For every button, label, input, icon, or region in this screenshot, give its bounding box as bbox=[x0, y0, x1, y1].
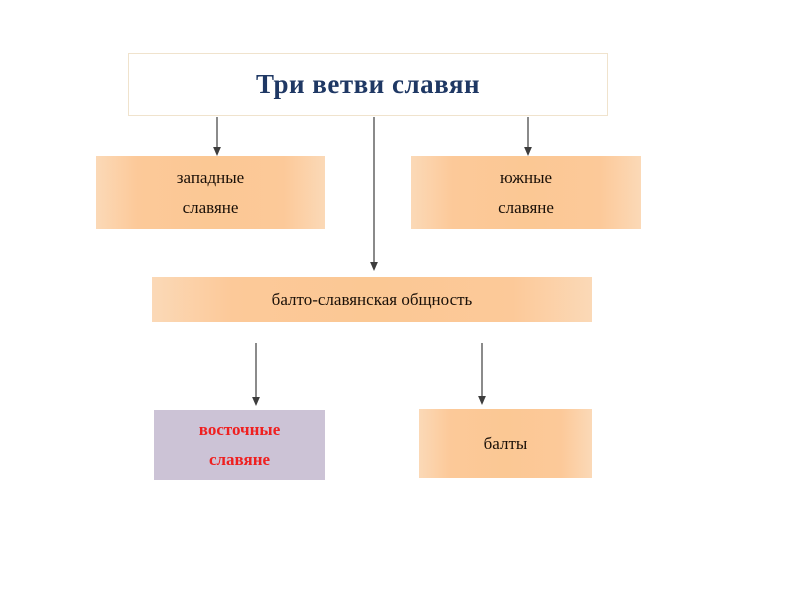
connector-title-to-west-slavs bbox=[210, 117, 224, 157]
node-southern-slavs-line-2: славяне bbox=[498, 193, 554, 223]
diagram-title-box: Три ветви славян bbox=[128, 53, 608, 116]
diagram-canvas: Три ветви славян западные славяне южные … bbox=[0, 0, 800, 600]
connector-title-to-south-slavs bbox=[521, 117, 535, 157]
connector-title-to-balto-slavic bbox=[367, 117, 381, 272]
node-eastern-slavs-line-1: восточные bbox=[199, 415, 281, 445]
node-southern-slavs: южные славяне bbox=[411, 156, 641, 229]
node-western-slavs: западные славяне bbox=[96, 156, 325, 229]
connector-balto-to-balts bbox=[475, 343, 489, 406]
node-balto-slavic-community-label: балто-славянская общность bbox=[272, 289, 473, 311]
node-eastern-slavs: восточные славяне bbox=[154, 410, 325, 480]
node-eastern-slavs-line-2: славяне bbox=[209, 445, 270, 475]
node-southern-slavs-line-1: южные bbox=[500, 163, 552, 193]
node-balto-slavic-community: балто-славянская общность bbox=[152, 277, 592, 322]
node-balts-label: балты bbox=[484, 429, 528, 459]
node-western-slavs-line-1: западные bbox=[177, 163, 244, 193]
diagram-title-text: Три ветви славян bbox=[256, 71, 480, 98]
node-balts: балты bbox=[419, 409, 592, 478]
node-western-slavs-line-2: славяне bbox=[183, 193, 239, 223]
connector-balto-to-eastern-slavs bbox=[249, 343, 263, 407]
